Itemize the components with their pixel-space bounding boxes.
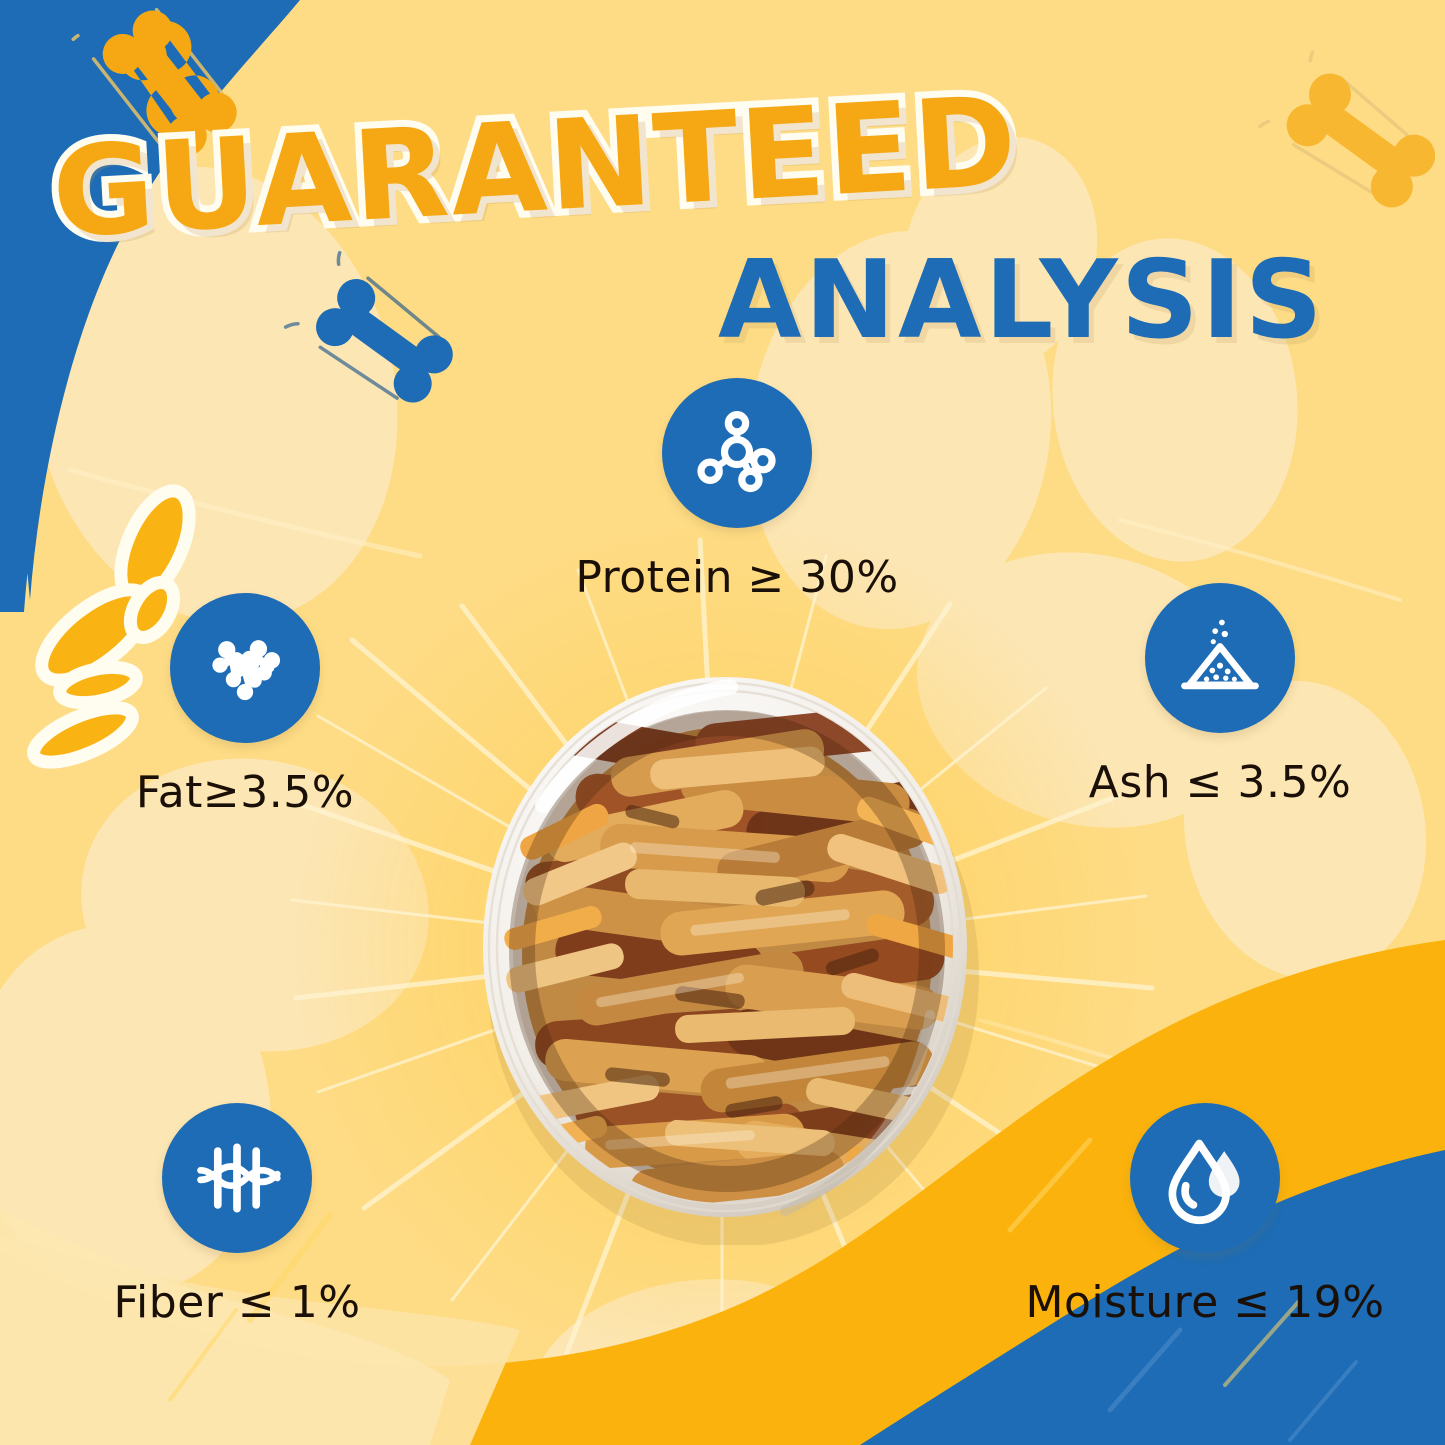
fiber-label: Fiber ≤ 1% (113, 1277, 360, 1328)
ash-label: Ash ≤ 3.5% (1089, 757, 1352, 808)
fat-label: Fat≥3.5% (136, 767, 354, 818)
moisture-label: Moisture ≤ 19% (1026, 1277, 1385, 1328)
molecule-icon (689, 405, 785, 501)
lipid-chain-icon (197, 620, 293, 716)
nutrient-item-ash: Ash ≤ 3.5% (1055, 583, 1385, 808)
moisture-badge (1130, 1103, 1280, 1253)
powder-pile-icon (1172, 610, 1268, 706)
protein-label: Protein ≥ 30% (575, 552, 898, 603)
guaranteed-analysis-infographic: GUARANTEED ANALYSIS (0, 0, 1445, 1445)
nutrient-item-fiber: Fiber ≤ 1% (72, 1103, 402, 1328)
nutrient-item-moisture: Moisture ≤ 19% (1040, 1103, 1370, 1328)
protein-badge (662, 378, 812, 528)
water-droplet-icon (1157, 1130, 1253, 1226)
nutrient-item-fat: Fat≥3.5% (80, 593, 410, 818)
nutrient-item-protein: Protein ≥ 30% (572, 378, 902, 603)
product-image (425, 655, 1025, 1245)
fat-badge (170, 593, 320, 743)
fiber-badge (162, 1103, 312, 1253)
woven-fiber-icon (189, 1130, 285, 1226)
ash-badge (1145, 583, 1295, 733)
